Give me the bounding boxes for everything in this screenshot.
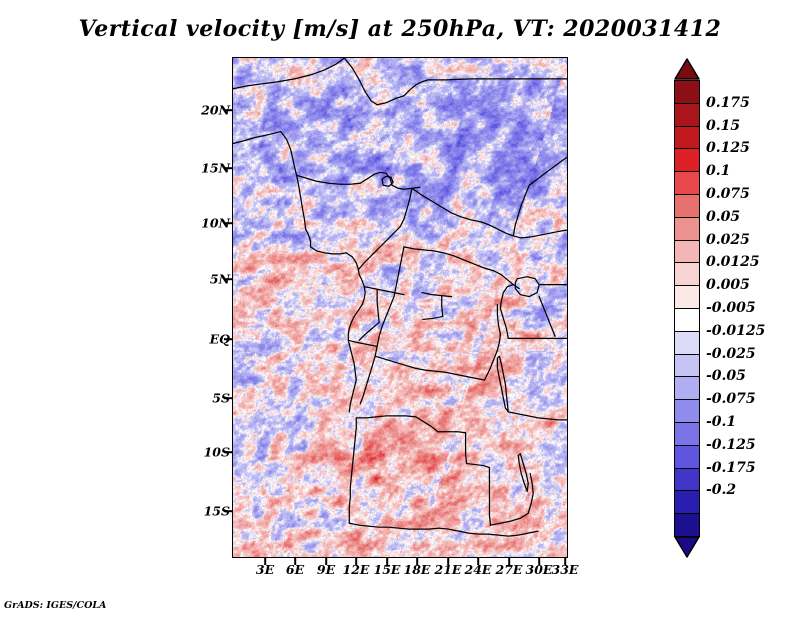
y-axis-label-20N: 20N bbox=[201, 103, 230, 118]
colorbar-label-8: 0.005 bbox=[706, 277, 750, 293]
grads-credit: GrADS: IGES/COLA bbox=[4, 600, 106, 611]
x-axis-label-9E: 9E bbox=[317, 562, 335, 577]
colorbar-cell bbox=[674, 422, 700, 446]
y-axis-label-5S: 5S bbox=[212, 391, 230, 406]
page-title: Vertical velocity [m/s] at 250hPa, VT: 2… bbox=[0, 16, 800, 42]
colorbar-cell bbox=[674, 468, 700, 492]
colorbar-cell bbox=[674, 194, 700, 218]
colorbar-label-17: -0.2 bbox=[706, 482, 736, 498]
colorbar-cell bbox=[674, 354, 700, 378]
colorbar-label-10: -0.0125 bbox=[706, 323, 765, 339]
y-axis-label-10N: 10N bbox=[201, 216, 230, 231]
colorbar-cell bbox=[674, 490, 700, 514]
colorbar-label-3: 0.1 bbox=[706, 163, 730, 179]
x-axis-label-3E: 3E bbox=[256, 562, 274, 577]
colorbar-cell bbox=[674, 148, 700, 172]
x-axis-label-24E: 24E bbox=[465, 562, 492, 577]
colorbar-cell bbox=[674, 80, 700, 104]
x-axis-label-12E: 12E bbox=[343, 562, 370, 577]
colorbar-label-2: 0.125 bbox=[706, 140, 750, 156]
colorbar-min-arrow bbox=[674, 536, 700, 558]
colorbar-cell bbox=[674, 513, 700, 537]
country-borders-overlay bbox=[233, 58, 567, 556]
colorbar-cell bbox=[674, 217, 700, 241]
map-plot-area[interactable] bbox=[232, 57, 568, 558]
x-axis-label-18E: 18E bbox=[404, 562, 431, 577]
colorbar-cell bbox=[674, 331, 700, 355]
colorbar-label-7: 0.0125 bbox=[706, 254, 760, 270]
colorbar-label-1: 0.15 bbox=[706, 118, 740, 134]
colorbar-cell bbox=[674, 103, 700, 127]
y-axis-label-5N: 5N bbox=[210, 272, 230, 287]
x-axis-label-6E: 6E bbox=[286, 562, 304, 577]
colorbar-label-16: -0.175 bbox=[706, 460, 756, 476]
colorbar-cell bbox=[674, 126, 700, 150]
y-axis-label-10S: 10S bbox=[204, 445, 230, 460]
colorbar-label-4: 0.075 bbox=[706, 186, 750, 202]
colorbar[interactable] bbox=[674, 58, 700, 558]
colorbar-label-12: -0.05 bbox=[706, 368, 746, 384]
colorbar-max-arrow bbox=[674, 58, 700, 80]
colorbar-cell bbox=[674, 240, 700, 264]
x-axis-label-30E: 30E bbox=[526, 562, 553, 577]
colorbar-cell bbox=[674, 171, 700, 195]
x-axis-label-33E: 33E bbox=[552, 562, 579, 577]
colorbar-cell bbox=[674, 285, 700, 309]
y-axis-label-15S: 15S bbox=[204, 504, 230, 519]
colorbar-cell bbox=[674, 262, 700, 286]
colorbar-label-6: 0.025 bbox=[706, 232, 750, 248]
colorbar-cell bbox=[674, 308, 700, 332]
x-axis-label-21E: 21E bbox=[435, 562, 462, 577]
colorbar-label-11: -0.025 bbox=[706, 346, 756, 362]
y-axis-label-EQ: EQ bbox=[210, 332, 230, 347]
colorbar-label-13: -0.075 bbox=[706, 391, 756, 407]
colorbar-cell bbox=[674, 376, 700, 400]
colorbar-label-15: -0.125 bbox=[706, 437, 756, 453]
x-axis-label-27E: 27E bbox=[496, 562, 523, 577]
colorbar-label-14: -0.1 bbox=[706, 414, 736, 430]
colorbar-cell bbox=[674, 445, 700, 469]
colorbar-cell bbox=[674, 399, 700, 423]
colorbar-label-9: -0.005 bbox=[706, 300, 756, 316]
x-axis-label-15E: 15E bbox=[374, 562, 401, 577]
y-axis-label-15N: 15N bbox=[201, 161, 230, 176]
colorbar-label-0: 0.175 bbox=[706, 95, 750, 111]
colorbar-label-5: 0.05 bbox=[706, 209, 740, 225]
